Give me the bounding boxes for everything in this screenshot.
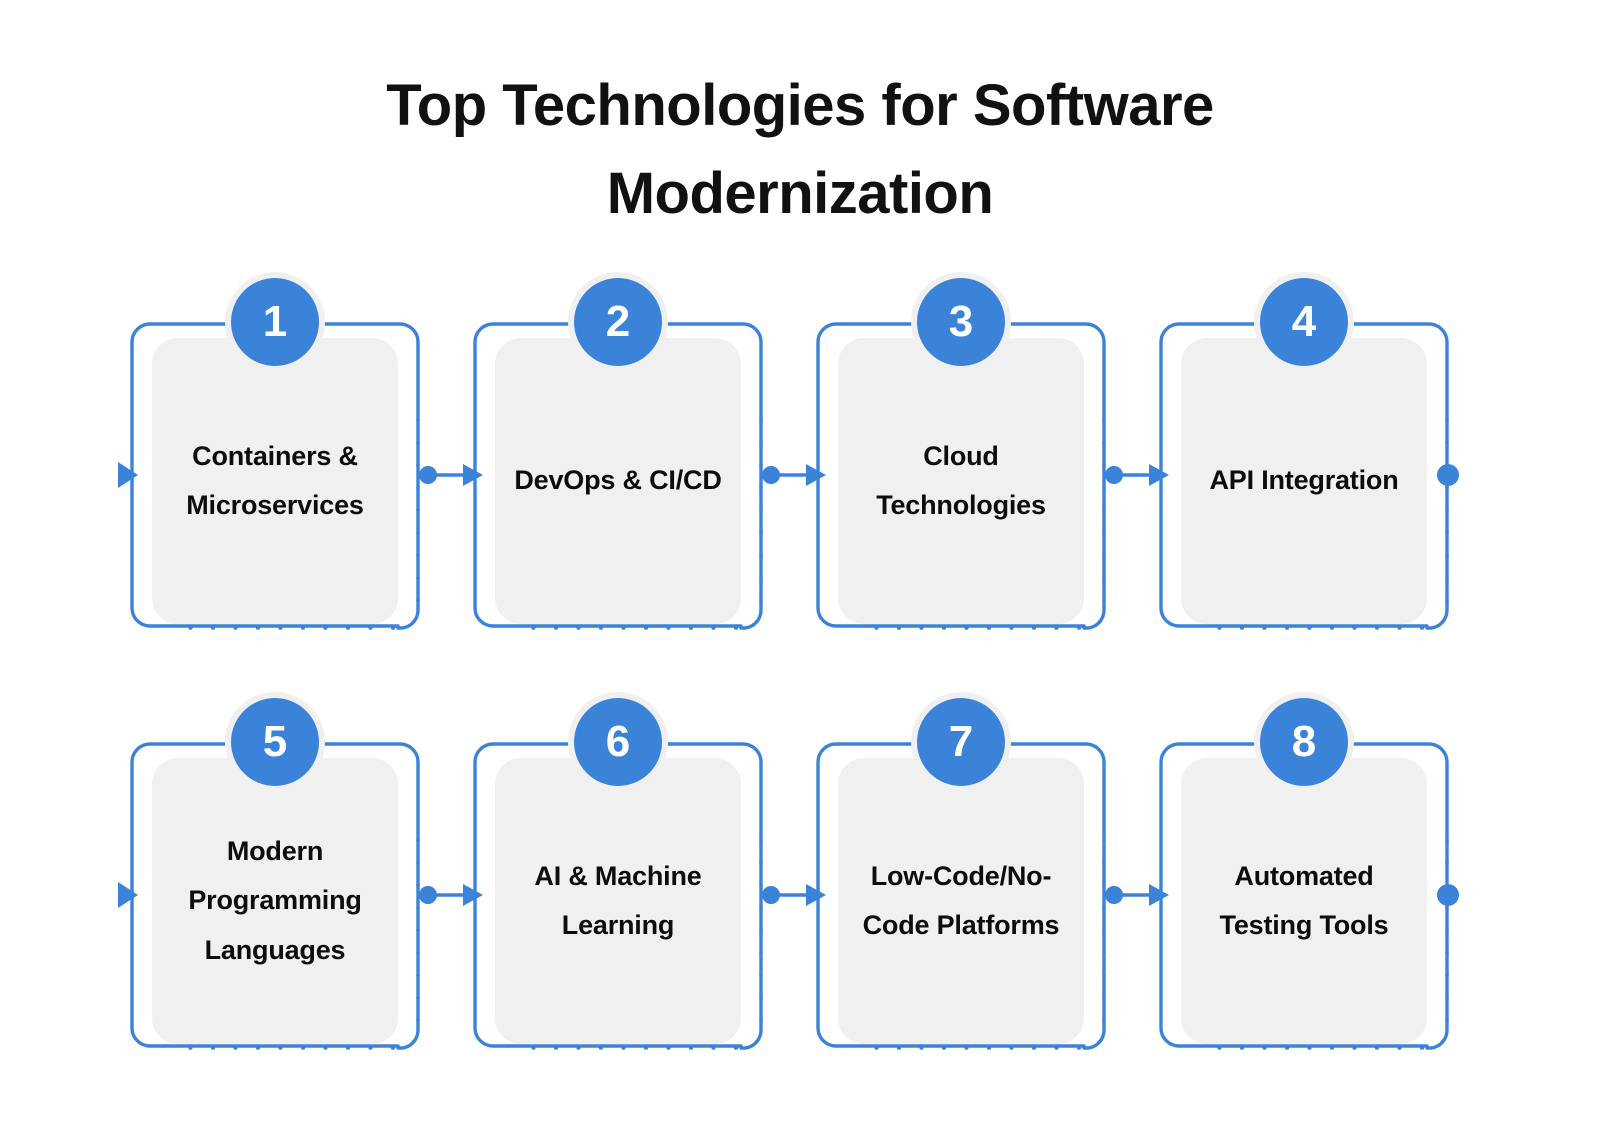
step-number-badge: 5 xyxy=(231,698,319,786)
process-flow-diagram: Containers & Microservices 1 DevOps & CI… xyxy=(0,0,1600,1142)
flow-step[interactable]: AI & Machine Learning 6 xyxy=(473,740,763,1050)
dot-icon xyxy=(1437,884,1459,906)
step-label: Automated Testing Tools xyxy=(1220,852,1389,950)
flow-step[interactable]: Automated Testing Tools 8 xyxy=(1159,740,1449,1050)
step-label: Low-Code/No- Code Platforms xyxy=(863,852,1060,950)
step-label: AI & Machine Learning xyxy=(534,852,701,950)
step-card: API Integration xyxy=(1181,338,1427,624)
step-card: Modern Programming Languages xyxy=(152,758,398,1044)
step-number-badge: 7 xyxy=(917,698,1005,786)
step-label: Modern Programming Languages xyxy=(188,827,361,974)
flow-step[interactable]: Low-Code/No- Code Platforms 7 xyxy=(816,740,1106,1050)
step-card: Cloud Technologies xyxy=(838,338,1084,624)
step-card: Automated Testing Tools xyxy=(1181,758,1427,1044)
flow-row-1: Containers & Microservices 1 DevOps & CI… xyxy=(130,320,1470,650)
flow-row-2: Modern Programming Languages 5 AI & Mach… xyxy=(130,740,1470,1070)
step-number-badge: 1 xyxy=(231,278,319,366)
step-card: AI & Machine Learning xyxy=(495,758,741,1044)
step-card: DevOps & CI/CD xyxy=(495,338,741,624)
step-number-badge: 3 xyxy=(917,278,1005,366)
step-label: API Integration xyxy=(1209,456,1398,505)
step-label: Containers & Microservices xyxy=(186,432,364,530)
step-card: Containers & Microservices xyxy=(152,338,398,624)
flow-step[interactable]: Cloud Technologies 3 xyxy=(816,320,1106,630)
step-label: DevOps & CI/CD xyxy=(514,456,721,505)
step-number-badge: 2 xyxy=(574,278,662,366)
flow-step[interactable]: DevOps & CI/CD 2 xyxy=(473,320,763,630)
flow-step[interactable]: Modern Programming Languages 5 xyxy=(130,740,420,1050)
step-card: Low-Code/No- Code Platforms xyxy=(838,758,1084,1044)
flow-step[interactable]: API Integration 4 xyxy=(1159,320,1449,630)
step-number-badge: 8 xyxy=(1260,698,1348,786)
flow-step[interactable]: Containers & Microservices 1 xyxy=(130,320,420,630)
step-label: Cloud Technologies xyxy=(876,432,1046,530)
step-number-badge: 6 xyxy=(574,698,662,786)
dot-icon xyxy=(1437,464,1459,486)
step-number-badge: 4 xyxy=(1260,278,1348,366)
